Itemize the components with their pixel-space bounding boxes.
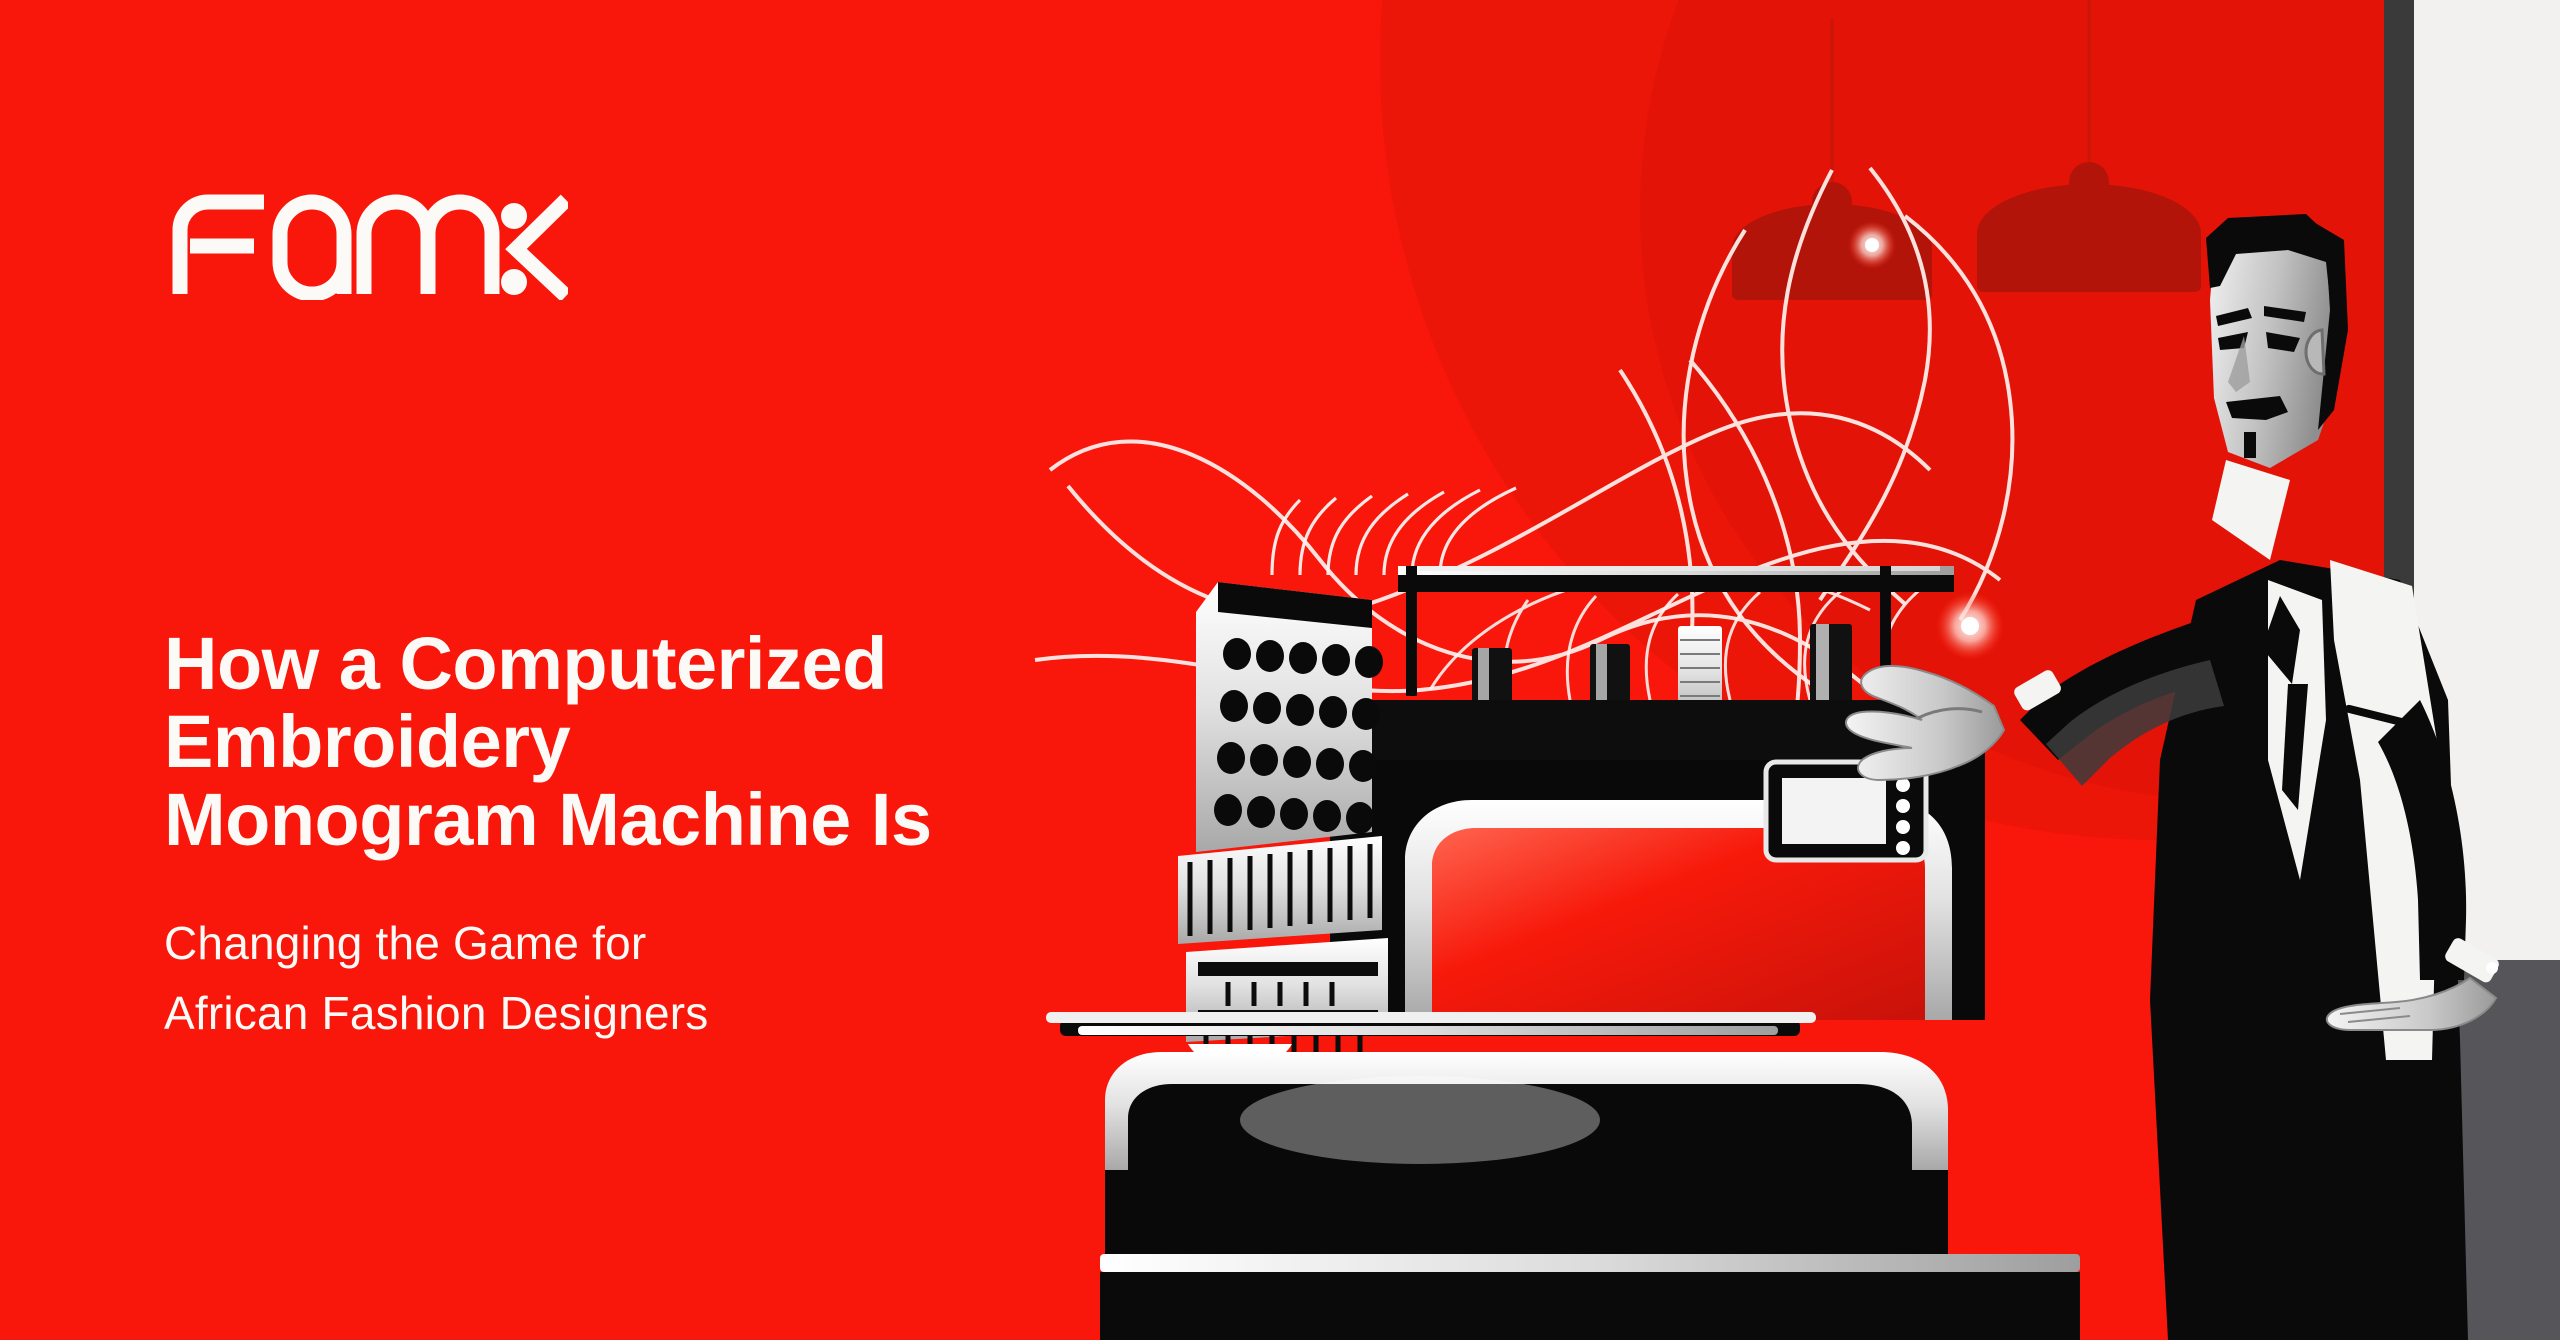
banner-canvas: How a Computerized Embroidery Monogram M…: [0, 0, 2560, 1340]
headline-line-3: Monogram Machine Is: [164, 781, 1224, 859]
figure-goatee: [2244, 432, 2256, 458]
table-top: [1100, 1254, 2080, 1272]
figure-watch-icon: [2486, 962, 2498, 974]
bed-highlight: [1240, 1076, 1600, 1164]
rail-post-left: [1406, 566, 1417, 696]
logo-dot-bottom: [501, 269, 527, 295]
glowing-thread-core: [1961, 617, 1979, 635]
headline-line-1: How a Computerized: [164, 625, 1224, 703]
page-subtitle: Changing the Game for African Fashion De…: [164, 908, 1064, 1048]
subheadline-line-2: African Fashion Designers: [164, 978, 1064, 1048]
thread-spark-core: [1865, 238, 1879, 252]
spool-rail: [1398, 574, 1954, 592]
brand-logo[interactable]: [168, 190, 568, 300]
table-base: [1100, 1272, 2080, 1340]
famk-logo-icon[interactable]: [168, 190, 568, 300]
needle-threads: [1272, 488, 1516, 575]
headline-line-2: Embroidery: [164, 703, 1224, 781]
machine-lower-body: [1105, 1170, 1948, 1254]
subheadline-line-1: Changing the Game for: [164, 908, 1064, 978]
logo-dot-top: [501, 203, 527, 229]
page-title: How a Computerized Embroidery Monogram M…: [164, 625, 1224, 859]
figure-collar: [2212, 460, 2290, 560]
control-panel-screen: [1782, 778, 1886, 844]
